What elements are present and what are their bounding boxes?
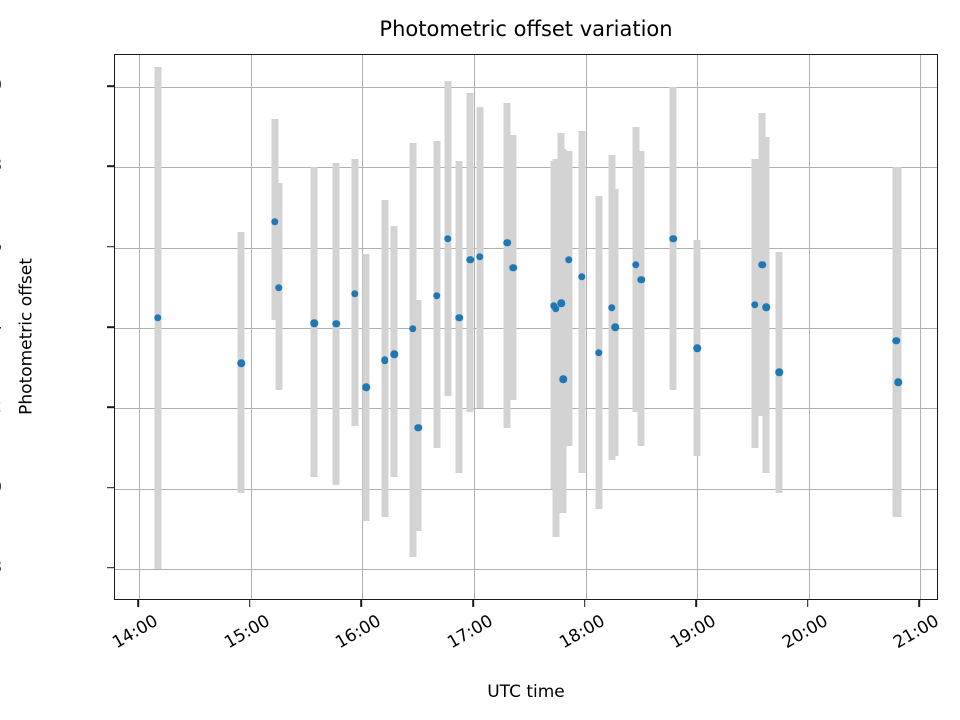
y-tick-mark <box>107 326 114 328</box>
data-point <box>560 376 568 384</box>
x-tick-label: 16:00 <box>333 612 385 653</box>
x-tick-mark <box>472 600 474 607</box>
plot-area <box>114 54 938 600</box>
data-point <box>759 261 767 269</box>
x-tick-mark <box>807 600 809 607</box>
gridline-vertical <box>586 55 587 599</box>
data-point <box>762 303 770 311</box>
data-point <box>414 424 422 432</box>
data-point <box>595 349 603 357</box>
y-tick-label: 9.4 <box>0 319 2 336</box>
gridline-vertical <box>139 55 140 599</box>
data-point <box>409 325 417 333</box>
x-tick-label: 15:00 <box>221 612 273 653</box>
y-tick-label: 9.6 <box>0 238 2 255</box>
data-point <box>351 290 359 298</box>
errorbar <box>565 151 572 446</box>
gridline-horizontal <box>115 87 937 88</box>
data-point <box>154 314 162 322</box>
x-tick-label: 21:00 <box>891 612 943 653</box>
y-tick-label: 9.2 <box>0 399 2 416</box>
data-point <box>504 239 512 247</box>
data-point <box>275 284 283 292</box>
x-tick-label: 20:00 <box>779 612 831 653</box>
data-point <box>751 301 759 309</box>
data-point <box>558 299 566 307</box>
data-point <box>238 360 246 368</box>
data-point <box>608 304 616 312</box>
x-tick-mark <box>137 600 139 607</box>
x-tick-mark <box>584 600 586 607</box>
y-tick-mark <box>107 487 114 489</box>
data-point <box>632 261 640 269</box>
data-point <box>509 264 517 272</box>
gridline-vertical <box>920 55 921 599</box>
x-axis-label: UTC time <box>114 683 938 702</box>
gridline-vertical <box>474 55 475 599</box>
x-tick-label: 19:00 <box>668 612 720 653</box>
gridline-horizontal <box>115 569 937 570</box>
errorbar <box>578 131 585 472</box>
data-point <box>362 384 370 392</box>
x-tick-mark <box>361 600 363 607</box>
y-tick-mark <box>107 85 114 87</box>
data-point <box>775 368 783 376</box>
data-point <box>565 256 573 264</box>
data-point <box>271 218 279 226</box>
x-tick-mark <box>919 600 921 607</box>
data-point <box>333 320 341 328</box>
x-tick-mark <box>249 600 251 607</box>
data-point <box>476 253 484 261</box>
errorbar <box>638 151 645 446</box>
y-tick-label: 9.0 <box>0 479 2 496</box>
data-point <box>894 378 902 386</box>
data-point <box>444 235 452 243</box>
errorbar <box>415 300 422 531</box>
y-tick-label: 10.0 <box>0 78 2 95</box>
y-tick-label: 9.8 <box>0 158 2 175</box>
figure-canvas: Photometric offset variation 10.09.89.69… <box>0 0 960 720</box>
data-point <box>390 350 398 358</box>
data-point <box>467 256 475 264</box>
gridline-vertical <box>251 55 252 599</box>
data-point <box>310 319 318 327</box>
data-point <box>693 344 701 352</box>
data-point <box>669 235 677 243</box>
data-point <box>455 314 463 322</box>
chart-title: Photometric offset variation <box>0 16 960 42</box>
y-axis-label: Photometric offset <box>18 227 37 447</box>
data-point <box>578 273 586 281</box>
x-tick-mark <box>695 600 697 607</box>
data-point <box>612 323 620 331</box>
y-tick-mark <box>107 246 114 248</box>
x-tick-label: 17:00 <box>445 612 497 653</box>
x-tick-label: 18:00 <box>556 612 608 653</box>
data-point <box>381 356 389 364</box>
y-tick-mark <box>107 166 114 168</box>
data-point <box>433 292 441 300</box>
x-tick-label: 14:00 <box>110 612 162 653</box>
y-tick-mark <box>107 406 114 408</box>
y-tick-label: 8.8 <box>0 559 2 576</box>
gridline-horizontal <box>115 167 937 168</box>
y-tick-mark <box>107 567 114 569</box>
gridline-vertical <box>809 55 810 599</box>
data-point <box>892 337 900 345</box>
errorbar <box>467 93 474 412</box>
data-point <box>638 276 646 284</box>
